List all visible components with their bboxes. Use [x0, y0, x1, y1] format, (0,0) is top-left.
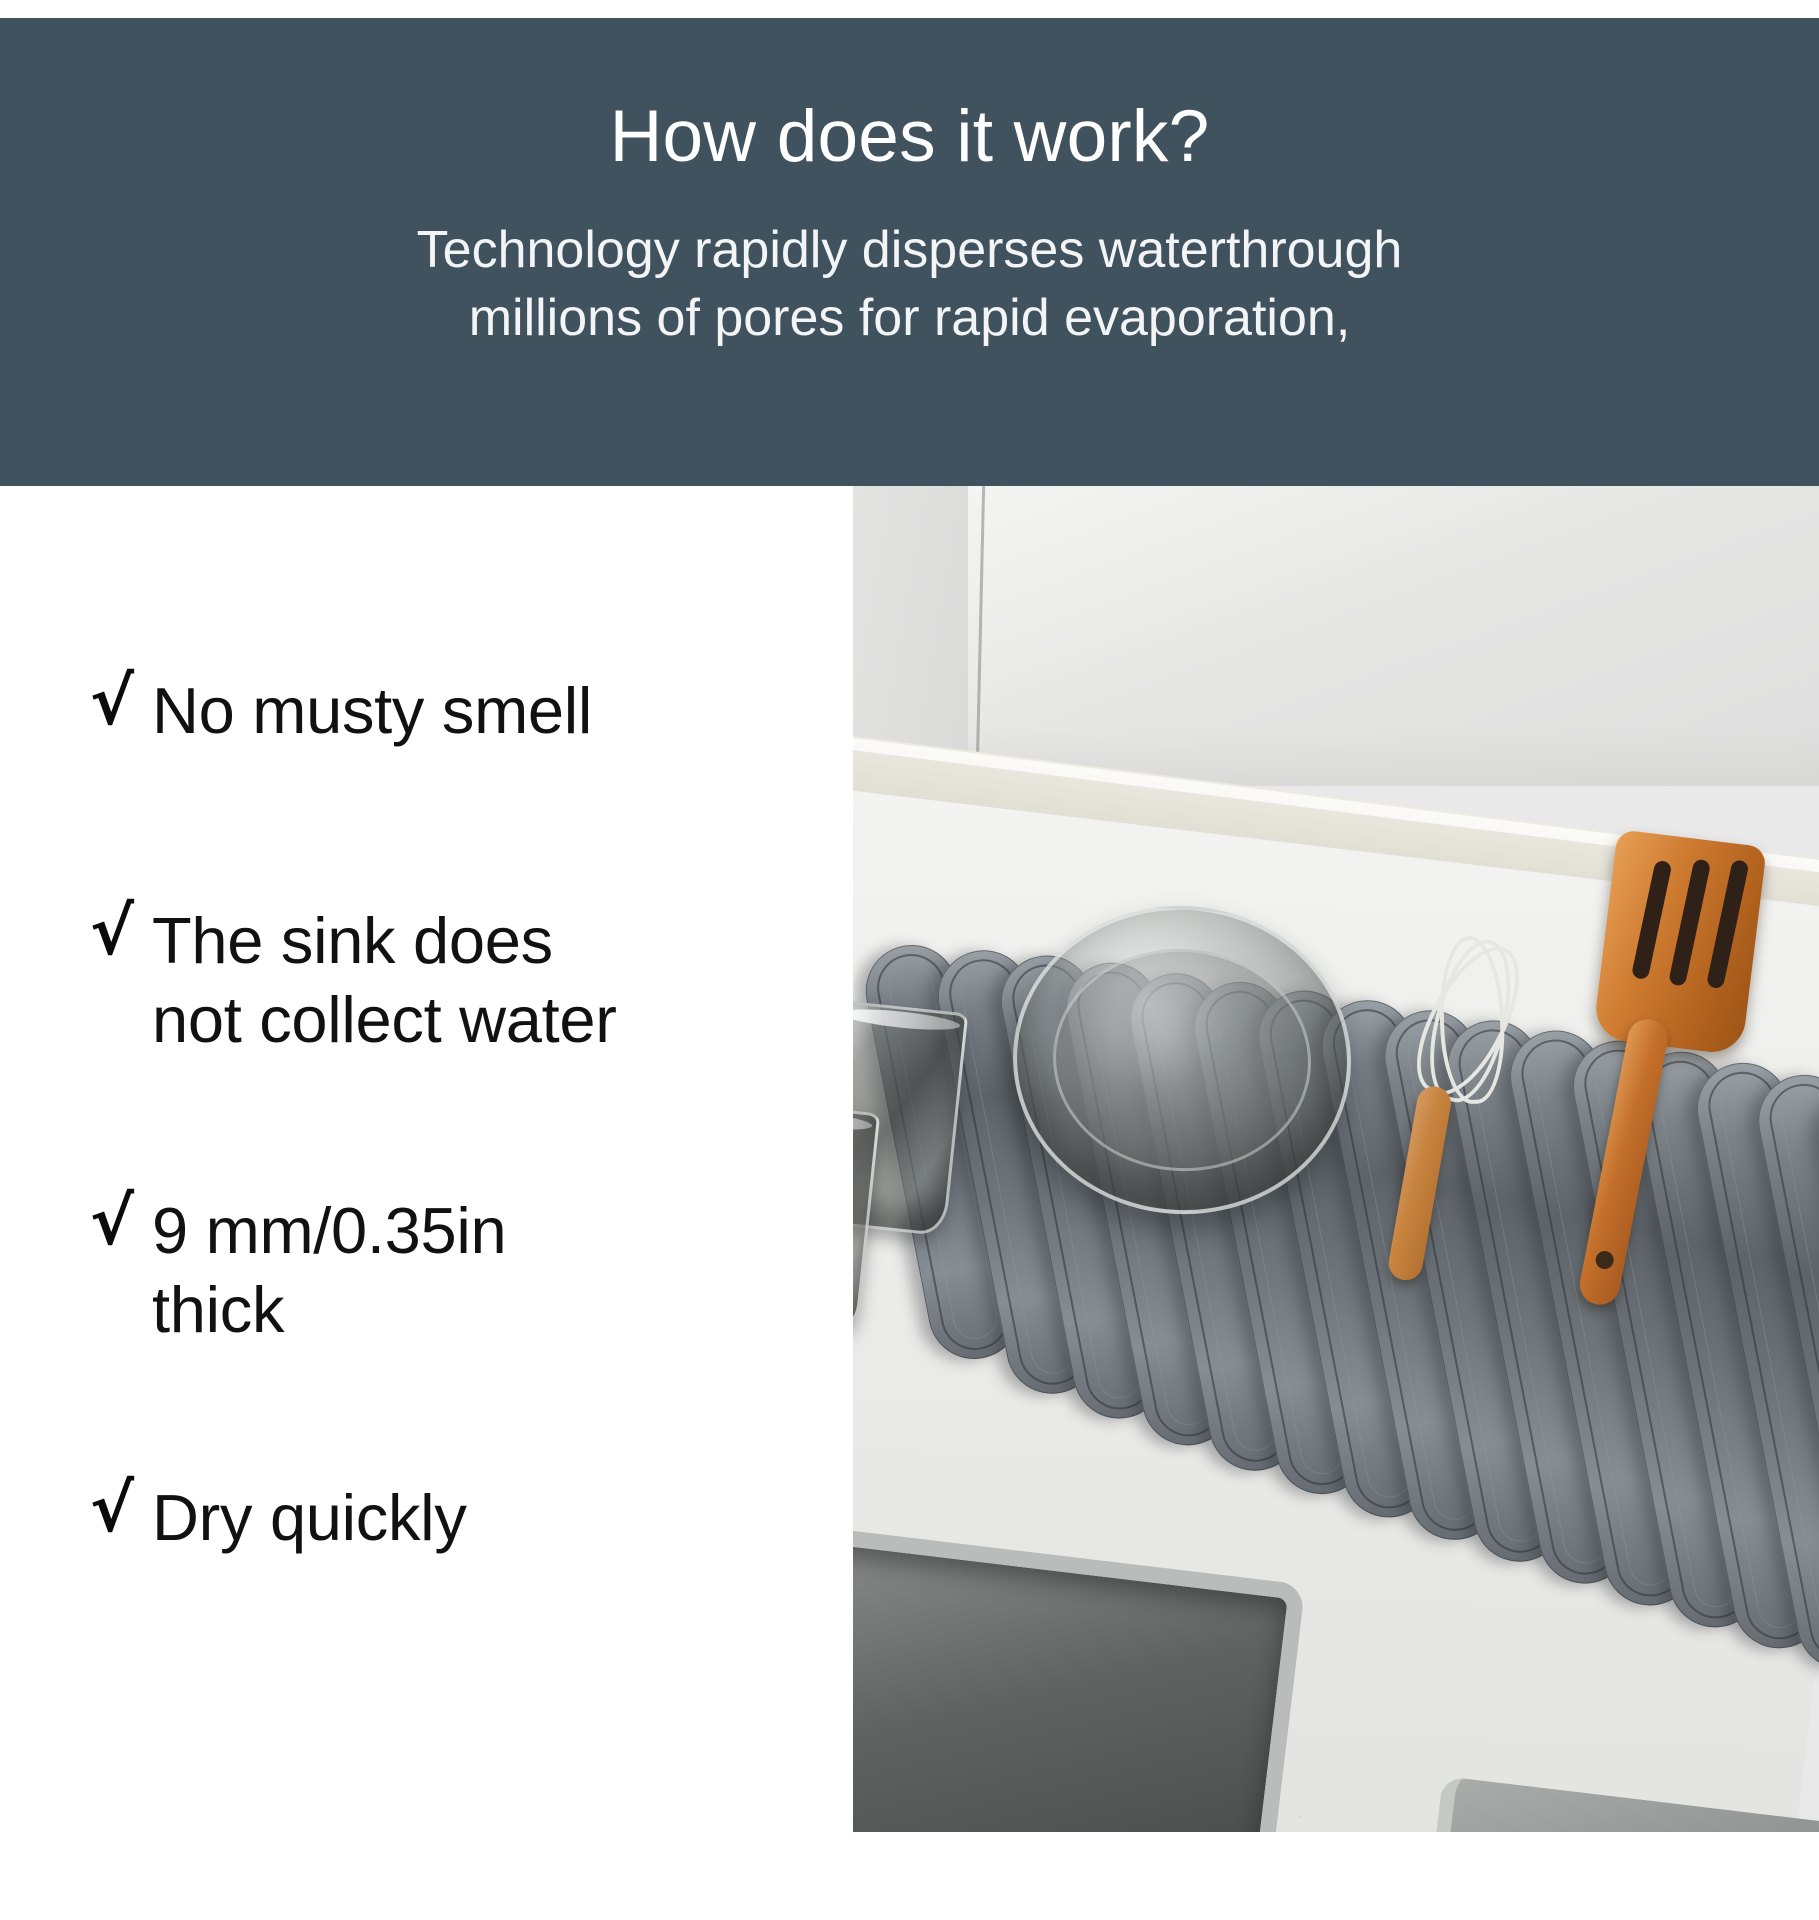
- feature-label: 9 mm/0.35in thick: [152, 1191, 506, 1350]
- checkmark-icon: √: [90, 897, 152, 966]
- feature-item-sink-does-not-collect-water: √ The sink does not collect water: [90, 901, 617, 1060]
- spatula-slot: [1631, 859, 1673, 980]
- whisk-handle: [1386, 1084, 1454, 1283]
- photo-bottom-margin: [853, 1832, 1819, 1876]
- photo-scene: [853, 486, 1819, 1876]
- page-subtitle: Technology rapidly disperses waterthroug…: [417, 217, 1403, 352]
- checkmark-icon: √: [90, 1474, 152, 1543]
- spatula-slot: [1706, 859, 1750, 990]
- content-area: √ No musty smell √ The sink does not col…: [0, 486, 1819, 1920]
- feature-item-thickness: √ 9 mm/0.35in thick: [90, 1191, 506, 1350]
- subtitle-line-1: Technology rapidly disperses waterthroug…: [417, 217, 1403, 285]
- feature-label: Dry quickly: [152, 1478, 467, 1557]
- checkmark-icon: √: [90, 667, 152, 736]
- spatula-handle: [1576, 1016, 1671, 1308]
- header-banner: How does it work? Technology rapidly dis…: [0, 18, 1819, 486]
- checkmark-icon: √: [90, 1187, 152, 1256]
- subtitle-line-2: millions of pores for rapid evaporation,: [417, 285, 1403, 353]
- spatula-head: [1592, 829, 1766, 1056]
- product-photo: [853, 486, 1819, 1876]
- feature-item-no-musty-smell: √ No musty smell: [90, 671, 592, 750]
- sink-basin-main: [853, 1526, 1306, 1876]
- dish-inner-ring: [1046, 940, 1318, 1179]
- feature-list: √ No musty smell √ The sink does not col…: [0, 486, 853, 1920]
- feature-label: No musty smell: [152, 671, 592, 750]
- spatula-slot: [1668, 858, 1711, 987]
- feature-item-dry-quickly: √ Dry quickly: [90, 1478, 467, 1557]
- top-white-margin: [0, 0, 1819, 18]
- page-title: How does it work?: [610, 100, 1210, 173]
- feature-label: The sink does not collect water: [152, 901, 617, 1060]
